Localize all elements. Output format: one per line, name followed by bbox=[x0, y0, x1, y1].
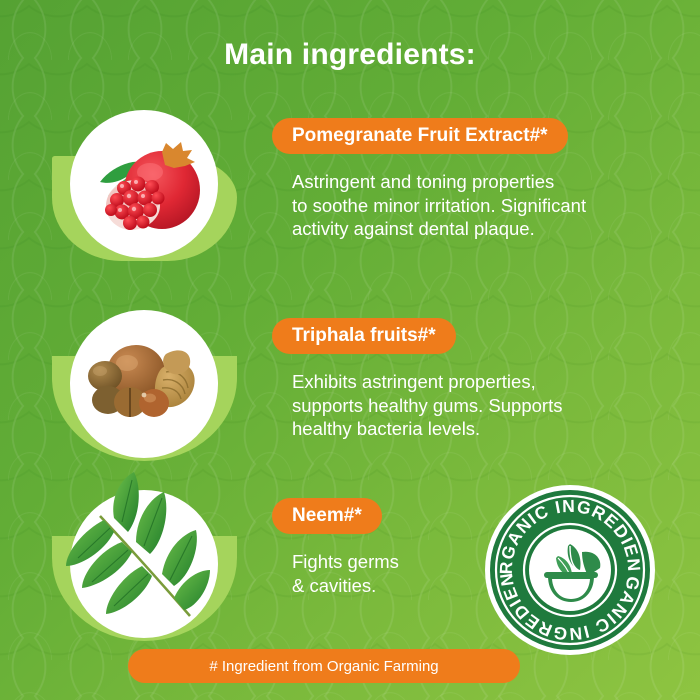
ingredient-description: Exhibits astringent properties, supports… bbox=[292, 370, 670, 441]
ingredient-row-pomegranate: Pomegranate Fruit Extract#* Astringent a… bbox=[0, 104, 700, 279]
neem-visual bbox=[42, 484, 252, 649]
ingredient-description: Astringent and toning properties to soot… bbox=[292, 170, 670, 241]
pomegranate-visual bbox=[42, 104, 252, 269]
triphala-visual bbox=[42, 304, 252, 469]
organic-ingredients-seal: *ORGANIC INGREDIENTS ·ORGANIC INGREDIENT… bbox=[484, 484, 656, 656]
organic-farming-note: # Ingredient from Organic Farming bbox=[128, 649, 520, 683]
page-title: Main ingredients: bbox=[0, 38, 700, 72]
neem-leaves-image bbox=[70, 490, 218, 638]
ingredient-name-badge: Neem#* bbox=[272, 498, 382, 534]
ingredient-name-badge: Pomegranate Fruit Extract#* bbox=[272, 118, 568, 154]
ingredient-row-triphala: Triphala fruits#* Exhibits astringent pr… bbox=[0, 304, 700, 479]
triphala-fruits-image bbox=[70, 310, 218, 458]
ingredients-poster: Main ingredients: bbox=[0, 0, 700, 700]
pomegranate-image bbox=[70, 110, 218, 258]
ingredient-name-badge: Triphala fruits#* bbox=[272, 318, 456, 354]
organic-farming-note-label: # Ingredient from Organic Farming bbox=[209, 658, 438, 675]
